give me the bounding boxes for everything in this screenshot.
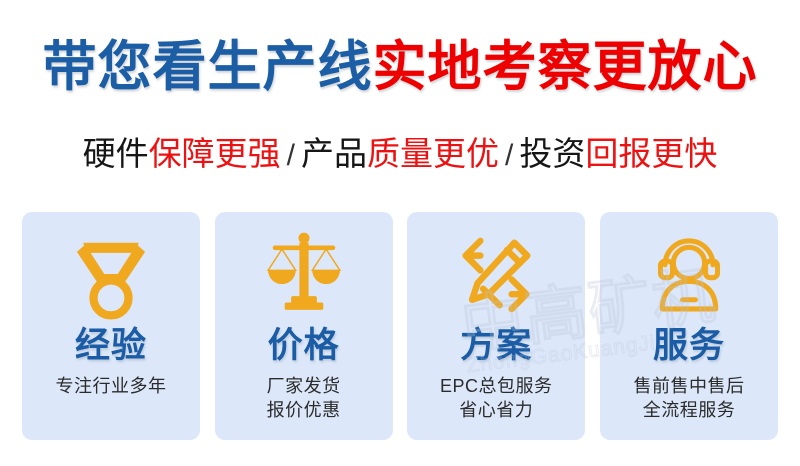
feature-card-desc: 专注行业多年 <box>56 374 167 398</box>
feature-card-desc-line: 售前售中售后 <box>633 374 744 398</box>
feature-card-title: 价格 <box>268 324 340 368</box>
subtitle-segment-3: 产品 <box>301 135 367 172</box>
feature-card-solution[interactable]: 方案 EPC总包服务 省心省力 <box>407 212 585 440</box>
subtitle-segment-6: 回报更快 <box>585 135 717 172</box>
subtitle: 硬件保障更强/产品质量更优/投资回报更快 <box>0 132 800 178</box>
feature-card-desc: 厂家发货 报价优惠 <box>267 374 341 422</box>
headset-support-icon <box>643 228 735 320</box>
subtitle-segment-4: 质量更优 <box>367 135 499 172</box>
feature-card-desc-line: 专注行业多年 <box>56 374 167 398</box>
feature-card-desc-line: 报价优惠 <box>267 398 341 422</box>
feature-card-title: 服务 <box>653 324 725 368</box>
headline-segment-blue: 带您看生产线 <box>43 37 373 97</box>
feature-card-list: 经验 专注行业多年 价格 厂家发货 报价优惠 <box>22 212 778 440</box>
feature-card-desc-line: EPC总包服务 <box>440 374 553 398</box>
promo-banner: 带您看生产线实地考察更放心 硬件保障更强/产品质量更优/投资回报更快 经验 专注… <box>0 0 800 466</box>
feature-card-price[interactable]: 价格 厂家发货 报价优惠 <box>215 212 393 440</box>
feature-card-desc-line: 全流程服务 <box>633 398 744 422</box>
subtitle-separator-1: / <box>281 139 301 172</box>
medal-icon <box>65 228 157 320</box>
page-title: 带您看生产线实地考察更放心 <box>0 36 800 98</box>
balance-scales-icon <box>258 228 350 320</box>
feature-card-desc: EPC总包服务 省心省力 <box>440 374 553 422</box>
feature-card-title: 方案 <box>460 324 532 368</box>
subtitle-segment-1: 硬件 <box>83 135 149 172</box>
subtitle-segment-2: 保障更强 <box>149 135 281 172</box>
feature-card-desc-line: 省心省力 <box>440 398 553 422</box>
feature-card-experience[interactable]: 经验 专注行业多年 <box>22 212 200 440</box>
subtitle-separator-2: / <box>499 139 519 172</box>
subtitle-segment-5: 投资 <box>519 135 585 172</box>
feature-card-desc: 售前售中售后 全流程服务 <box>633 374 744 422</box>
pencil-design-icon <box>450 228 542 320</box>
headline-segment-red: 实地考察更放心 <box>373 37 758 97</box>
feature-card-service[interactable]: 服务 售前售中售后 全流程服务 <box>600 212 778 440</box>
feature-card-desc-line: 厂家发货 <box>267 374 341 398</box>
feature-card-title: 经验 <box>75 324 147 368</box>
